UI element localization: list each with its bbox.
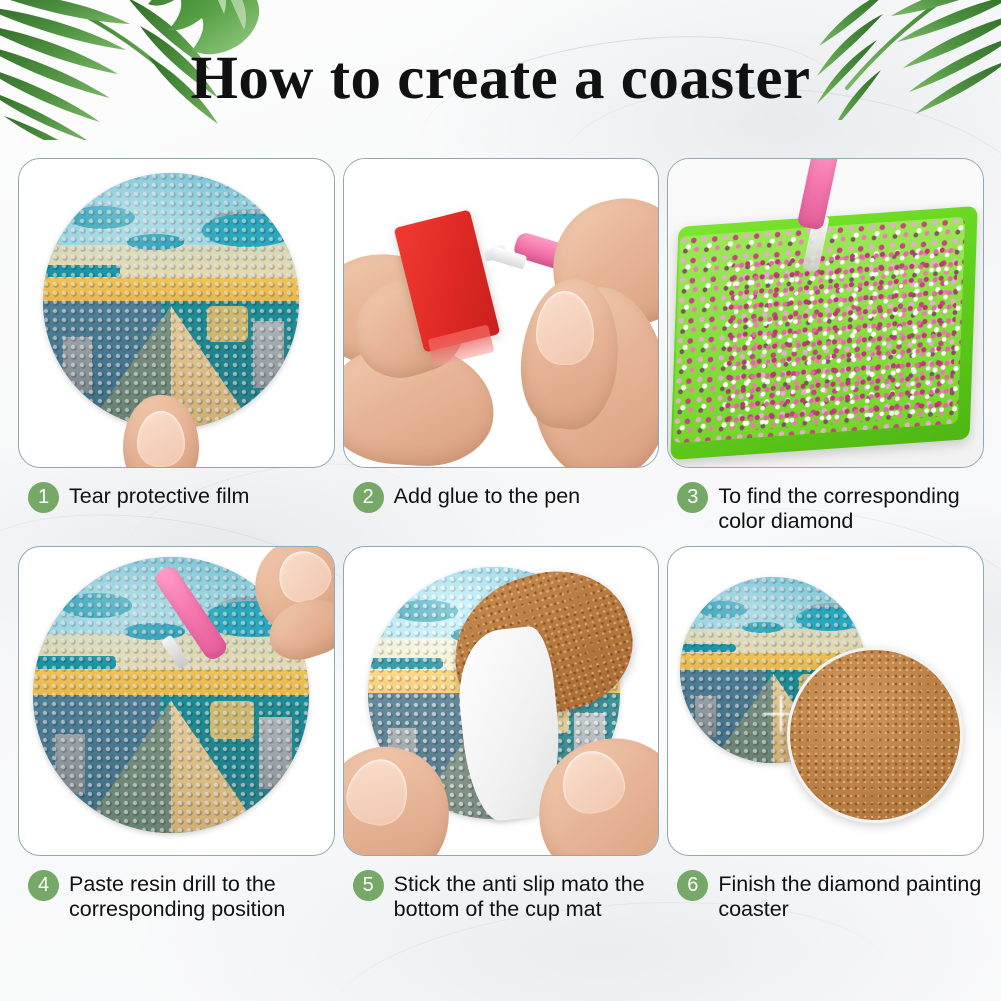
step-number-badge: 4 <box>28 870 59 901</box>
step-caption-text: Finish the diamond painting coaster <box>718 870 981 922</box>
step-6-photo[interactable] <box>667 546 984 856</box>
step-4-photo[interactable] <box>18 546 335 856</box>
step-card-4: 4 Paste resin drill to the corresponding… <box>18 546 335 922</box>
step-caption-text: To find the corresponding color diamond <box>718 482 959 534</box>
caption-line-2: coaster <box>718 897 789 921</box>
scene-paste-drill <box>19 547 334 855</box>
caption-line-1: Finish the diamond painting <box>718 872 981 896</box>
step-3-photo[interactable] <box>667 158 984 468</box>
step-1-photo[interactable] <box>18 158 335 468</box>
page-title: How to create a coaster <box>0 48 1001 109</box>
step-caption-text: Add glue to the pen <box>394 482 581 509</box>
step-5-photo[interactable] <box>343 546 660 856</box>
step-6-caption: 6 Finish the diamond painting coaster <box>667 856 984 922</box>
step-number-badge: 6 <box>677 870 708 901</box>
caption-line-1: Paste resin drill to the <box>69 872 276 896</box>
step-card-5: 5 Stick the anti slip mato the bottom of… <box>343 546 660 922</box>
coaster-artwork <box>43 173 299 429</box>
scene-find-diamond <box>668 159 983 467</box>
step-2-photo[interactable] <box>343 158 660 468</box>
caption-line-2: corresponding position <box>69 897 285 921</box>
step-3-caption: 3 To find the corresponding color diamon… <box>667 468 984 534</box>
step-1-caption: 1 Tear protective film <box>18 468 335 513</box>
caption-line-1: Stick the anti slip mato the <box>394 872 645 896</box>
step-card-2: 2 Add glue to the pen <box>343 158 660 534</box>
step-number-badge: 1 <box>28 482 59 513</box>
step-2-caption: 2 Add glue to the pen <box>343 468 660 513</box>
scene-add-glue <box>344 159 659 467</box>
scene-tear-film <box>19 159 334 467</box>
scene-stick-mat <box>344 547 659 855</box>
step-4-caption: 4 Paste resin drill to the corresponding… <box>18 856 335 922</box>
scene-finished-coaster <box>668 547 983 855</box>
step-card-1: 1 Tear protective film <box>18 158 335 534</box>
step-number-badge: 5 <box>353 870 384 901</box>
step-caption-text: Tear protective film <box>69 482 249 509</box>
step-card-3: 3 To find the corresponding color diamon… <box>667 158 984 534</box>
steps-grid: 1 Tear protective film 2 Add glue to <box>18 158 984 922</box>
step-number-badge: 3 <box>677 482 708 513</box>
step-caption-text: Paste resin drill to the corresponding p… <box>69 870 285 922</box>
step-number-badge: 2 <box>353 482 384 513</box>
caption-line-2: color diamond <box>718 509 853 533</box>
step-5-caption: 5 Stick the anti slip mato the bottom of… <box>343 856 660 922</box>
caption-line-2: bottom of the cup mat <box>394 897 602 921</box>
cork-grain-texture <box>790 650 960 820</box>
rhinestones-dense <box>725 246 959 432</box>
cork-pad <box>787 647 963 823</box>
step-card-6: 6 Finish the diamond painting coaster <box>667 546 984 922</box>
caption-line-1: To find the corresponding <box>718 484 959 508</box>
step-caption-text: Stick the anti slip mato the bottom of t… <box>394 870 645 922</box>
